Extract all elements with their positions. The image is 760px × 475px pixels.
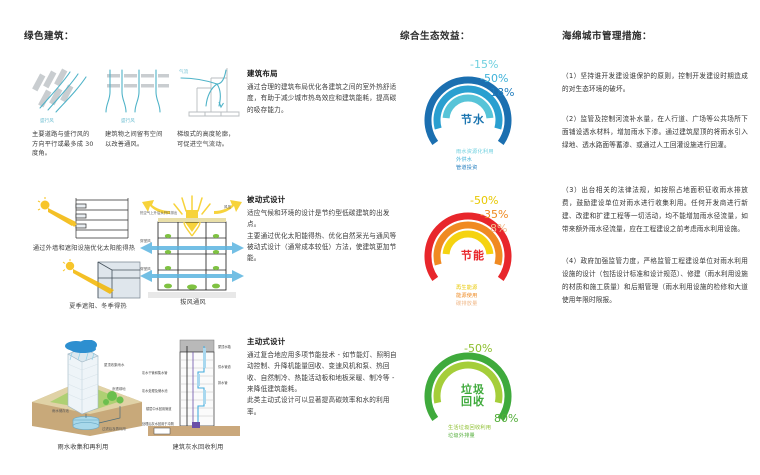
block-body-active-design: 通过复合地应用多项节能技术 - 如节能灯、照明自动控制、升降机能量回收、变速风机… [247,350,397,418]
figure-wind-building-gaps: 盛行风 [105,68,171,130]
svg-text:雨水储存池: 雨水储存池 [52,408,70,413]
text-block-active-design: 主动式设计 通过复合地应用多项节能技术 - 如节能灯、照明自动控制、升降机能量回… [247,336,397,418]
block-title-passive-design: 被动式设计 [247,194,397,205]
figure-rainwater-harvest-reuse: 屋顶收集雨水 渗透绿地 雨水储存池 过滤后及再利用 [28,340,146,442]
figure-summer-shade-winter-heat [52,258,144,304]
donut-legend-2: 外供水 [456,156,472,163]
figure-caption-solar-gain: 通过外墙和遮阳设施优化太阳能得热 [30,244,138,254]
svg-text:渗透绿地: 渗透绿地 [112,386,126,391]
text-block-passive-design: 被动式设计 适应气候和环境的设计是节约型低碳建筑的出发点。 主要通过优化太阳能得… [247,194,397,265]
slide-canvas: 绿色建筑： 综合生态效益： 海绵城市管理措施： 盛行风 主要道路与盛行风的方向平… [0,0,760,475]
donut-legend-1: 再生能源 [456,284,478,291]
diagram-label-wind-pressure: 风压 [224,205,232,209]
block-body-passive-design: 适应气候和环境的设计是节约型低碳建筑的出发点。 主要通过优化太阳能得热、优化自然… [247,208,397,265]
donut-legend-2: 能源使用 [456,292,478,299]
svg-text:屋顶收集雨水: 屋顶收集雨水 [104,362,125,367]
figure-wind-road-alignment: 盛行风 [32,68,98,130]
section-header-eco-benefit: 综合生态效益： [400,28,470,42]
svg-text:楼层中水回用管道: 楼层中水回用管道 [146,406,172,411]
svg-text:处理后灰水回用于冲厕: 处理后灰水回用于冲厕 [142,421,174,426]
donut-arc-1 [446,234,490,254]
block-body-building-layout: 通过合理的建筑布局优化各建筑之间的室外热舒适度，有助于减少城市热岛效应和建筑能耗… [247,82,397,116]
sponge-city-paragraph-3: （3）出台相关的法律法规，如按照占地面积征收雨水排放费，鼓励建设单位对雨水进行收… [562,184,748,235]
donut-value-1: -50% [470,194,498,207]
sponge-city-paragraph-2: （2）监管及控制河流补水量，在人行道、广场等公共场所下面铺设透水材料，增加雨水下… [562,113,748,152]
figure-caption-stack-ventilation: 拔风通风 [150,298,236,308]
section-header-green-building: 绿色建筑： [24,28,74,42]
donut-rings [418,62,528,180]
diagram-label-cross-wind-2: 穿堂风 [140,266,151,271]
figure-caption-rainwater: 雨水收集和再利用 [24,443,142,453]
donut-arc-1 [446,98,490,118]
section-header-sponge-city: 海绵城市管理措施： [562,28,652,42]
donut-legend-2: 垃圾外排量 [448,432,475,439]
svg-text:供水管道: 供水管道 [218,364,232,369]
donut-value-1: -50% [464,342,492,355]
block-title-active-design: 主动式设计 [247,336,397,347]
block-title-building-layout: 建筑布局 [247,68,397,79]
figure-label-prevailing-wind-2: 盛行风 [121,117,135,124]
donut-legend-3: 碳排放量 [456,300,478,307]
donut-value-2: 80% [494,412,518,425]
svg-text:灰水干管和集水管: 灰水干管和集水管 [142,370,168,375]
sponge-city-paragraph-1: （1）坚持谁开发建设谁保护的原则，控制开发建设时期造成的对生态环境的破坏。 [562,70,748,96]
text-block-building-layout: 建筑布局 通过合理的建筑布局优化各建筑之间的室外热舒适度，有助于减少城市热岛效应… [247,68,397,116]
donut-chart-water-saving: 节水-15%-50%18%雨水资源化利用外供水管道投资 [418,62,528,180]
figure-facade-shading-solar-gain [36,196,132,244]
donut-value-3: 8% [490,222,507,235]
donut-value-1: -15% [470,58,498,71]
figure-caption-greywater: 建筑灰水回收利用 [146,443,250,453]
donut-legend-1: 生活垃圾回收利用 [448,424,491,431]
figure-greywater-recycling: 屋顶水箱 供水管道 排水管 灰水干管和集水管 灰水处理及储水池 楼层中水回用管道… [140,336,244,444]
figure-stack-ventilation: 热空气上升后从开口排出 风压 穿堂风 穿堂风 [138,192,246,306]
donut-chart-energy-saving: 节能-50%-35%8%再生能源能源使用碳排放量 [418,198,528,316]
donut-arc-1 [437,365,499,403]
svg-text:灰水处理及储水池: 灰水处理及储水池 [142,388,168,393]
svg-text:过滤后及再利用: 过滤后及再利用 [102,426,126,431]
donut-legend-1: 雨水资源化利用 [456,148,494,155]
sponge-city-paragraph-4: （4）政府加强监管力度，严格监管工程建设单位对雨水利用设施的设计（包括设计标准和… [562,255,748,306]
figure-label-prevailing-wind-1: 盛行风 [40,117,54,124]
donut-value-2: -50% [480,72,508,85]
figure-stepped-height-profile: 气流 [175,62,243,130]
donut-chart-waste-recycling: 垃圾回收-50%80%生活垃圾回收利用垃圾外排量 [418,338,528,456]
donut-value-3: 18% [490,86,514,99]
figure-caption-2: 建筑物之间留有空间以改善通风。 [105,130,167,149]
svg-text:屋顶水箱: 屋顶水箱 [218,344,232,349]
donut-value-2: -35% [480,208,508,221]
figure-caption-1: 主要道路与盛行风的方向平行或最多成 30 度角。 [32,130,94,159]
figure-label-airflow: 气流 [179,68,189,75]
diagram-label-cross-wind-1: 穿堂风 [140,238,151,243]
svg-text:排水管: 排水管 [218,380,228,385]
diagram-label-stack-vent-top: 热空气上升后从开口排出 [140,210,178,215]
donut-legend-3: 管道投资 [456,164,478,171]
figure-caption-3: 梯级式的高度轮廓，可促进空气流动。 [177,130,239,149]
